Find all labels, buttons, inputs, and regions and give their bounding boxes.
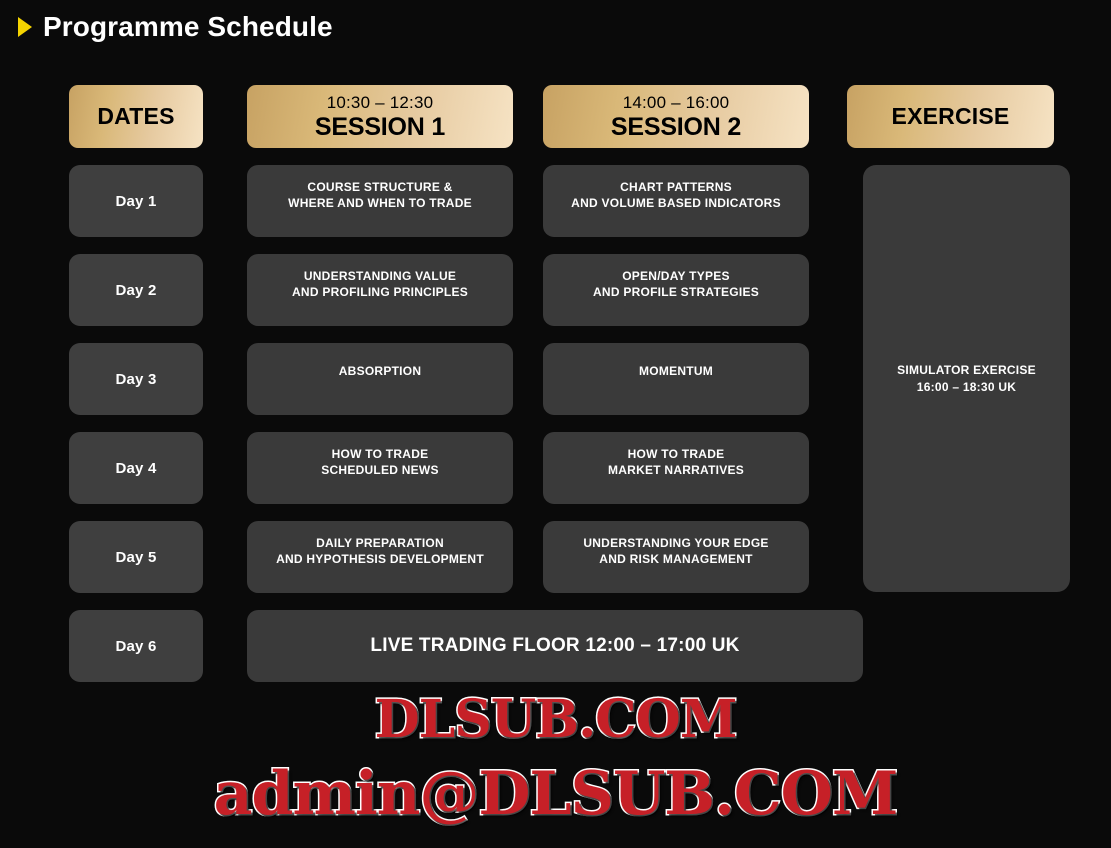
day-cell: Day 1 bbox=[69, 165, 203, 237]
session2-topic-cell: CHART PATTERNS AND VOLUME BASED INDICATO… bbox=[543, 165, 809, 237]
spacer bbox=[203, 432, 247, 504]
page-title: Programme Schedule bbox=[18, 8, 333, 46]
spacer bbox=[203, 521, 247, 593]
spacer bbox=[513, 432, 543, 504]
session2-topic-cell: MOMENTUM bbox=[543, 343, 809, 415]
spacer bbox=[513, 165, 543, 237]
spacer bbox=[809, 85, 847, 148]
spacer bbox=[513, 85, 543, 148]
table-row: Day 5 DAILY PREPARATION AND HYPOTHESIS D… bbox=[69, 521, 863, 593]
header-dates-label: DATES bbox=[97, 105, 174, 128]
session1-topic-cell: HOW TO TRADE SCHEDULED NEWS bbox=[247, 432, 513, 504]
page-title-label: Programme Schedule bbox=[43, 13, 333, 41]
spacer bbox=[513, 254, 543, 326]
topic-line: HOW TO TRADE bbox=[608, 447, 744, 463]
topic-line: AND RISK MANAGEMENT bbox=[583, 552, 768, 568]
spacer bbox=[203, 165, 247, 237]
exercise-title: SIMULATOR EXERCISE bbox=[897, 362, 1036, 379]
topic-line: COURSE STRUCTURE & bbox=[288, 180, 472, 196]
table-row: Day 3 ABSORPTION MOMENTUM bbox=[69, 343, 863, 415]
header-cell-session1: 10:30 – 12:30 SESSION 1 bbox=[247, 85, 513, 148]
watermark-site-url: DLSUB.COM bbox=[0, 694, 1111, 746]
table-row: Day 1 COURSE STRUCTURE & WHERE AND WHEN … bbox=[69, 165, 863, 237]
header-cell-dates: DATES bbox=[69, 85, 203, 148]
topic-line: CHART PATTERNS bbox=[571, 180, 781, 196]
day-cell: Day 6 bbox=[69, 610, 203, 682]
table-row: Day 6 LIVE TRADING FLOOR 12:00 – 17:00 U… bbox=[69, 610, 863, 682]
spacer bbox=[203, 85, 247, 148]
day-cell: Day 5 bbox=[69, 521, 203, 593]
topic-line: AND VOLUME BASED INDICATORS bbox=[571, 196, 781, 212]
programme-schedule-table: DATES 10:30 – 12:30 SESSION 1 14:00 – 16… bbox=[69, 85, 1070, 682]
topic-line: DAILY PREPARATION bbox=[276, 536, 484, 552]
spacer bbox=[203, 254, 247, 326]
topic-line: AND PROFILING PRINCIPLES bbox=[292, 285, 468, 301]
spacer bbox=[513, 343, 543, 415]
topic-line: HOW TO TRADE bbox=[321, 447, 439, 463]
session1-topic-cell: ABSORPTION bbox=[247, 343, 513, 415]
exercise-time: 16:00 – 18:30 UK bbox=[897, 379, 1036, 396]
watermark-email: admin@DLSUB.COM bbox=[0, 764, 1111, 824]
topic-line: WHERE AND WHEN TO TRADE bbox=[288, 196, 472, 212]
live-trading-floor-cell: LIVE TRADING FLOOR 12:00 – 17:00 UK bbox=[247, 610, 863, 682]
topic-line: AND PROFILE STRATEGIES bbox=[593, 285, 759, 301]
spacer bbox=[513, 521, 543, 593]
topic-line: UNDERSTANDING YOUR EDGE bbox=[583, 536, 768, 552]
table-row: Day 2 UNDERSTANDING VALUE AND PROFILING … bbox=[69, 254, 863, 326]
spacer bbox=[203, 610, 247, 682]
header-session2-time: 14:00 – 16:00 bbox=[623, 94, 730, 111]
topic-line: ABSORPTION bbox=[339, 364, 422, 380]
session2-topic-cell: HOW TO TRADE MARKET NARRATIVES bbox=[543, 432, 809, 504]
header-session1-label: SESSION 1 bbox=[315, 115, 445, 140]
topic-line: UNDERSTANDING VALUE bbox=[292, 269, 468, 285]
simulator-exercise-panel: SIMULATOR EXERCISE 16:00 – 18:30 UK bbox=[863, 165, 1070, 592]
day-cell: Day 3 bbox=[69, 343, 203, 415]
day-cell: Day 2 bbox=[69, 254, 203, 326]
topic-line: AND HYPOTHESIS DEVELOPMENT bbox=[276, 552, 484, 568]
session1-topic-cell: COURSE STRUCTURE & WHERE AND WHEN TO TRA… bbox=[247, 165, 513, 237]
topic-line: SCHEDULED NEWS bbox=[321, 463, 439, 479]
spacer bbox=[203, 343, 247, 415]
session1-topic-cell: DAILY PREPARATION AND HYPOTHESIS DEVELOP… bbox=[247, 521, 513, 593]
topic-line: MARKET NARRATIVES bbox=[608, 463, 744, 479]
header-cell-session2: 14:00 – 16:00 SESSION 2 bbox=[543, 85, 809, 148]
topic-line: OPEN/DAY TYPES bbox=[593, 269, 759, 285]
header-session1-time: 10:30 – 12:30 bbox=[327, 94, 434, 111]
schedule-rows: Day 1 COURSE STRUCTURE & WHERE AND WHEN … bbox=[69, 165, 863, 682]
header-session2-label: SESSION 2 bbox=[611, 115, 741, 140]
session2-topic-cell: UNDERSTANDING YOUR EDGE AND RISK MANAGEM… bbox=[543, 521, 809, 593]
watermark: DLSUB.COM admin@DLSUB.COM bbox=[0, 694, 1111, 824]
header-cell-exercise: EXERCISE bbox=[847, 85, 1054, 148]
schedule-body: Day 1 COURSE STRUCTURE & WHERE AND WHEN … bbox=[69, 165, 1070, 682]
day-cell: Day 4 bbox=[69, 432, 203, 504]
session2-topic-cell: OPEN/DAY TYPES AND PROFILE STRATEGIES bbox=[543, 254, 809, 326]
table-row: Day 4 HOW TO TRADE SCHEDULED NEWS HOW TO… bbox=[69, 432, 863, 504]
header-exercise-label: EXERCISE bbox=[892, 105, 1010, 128]
topic-line: MOMENTUM bbox=[639, 364, 713, 380]
play-triangle-icon bbox=[18, 17, 32, 37]
schedule-header-row: DATES 10:30 – 12:30 SESSION 1 14:00 – 16… bbox=[69, 85, 1070, 148]
session1-topic-cell: UNDERSTANDING VALUE AND PROFILING PRINCI… bbox=[247, 254, 513, 326]
